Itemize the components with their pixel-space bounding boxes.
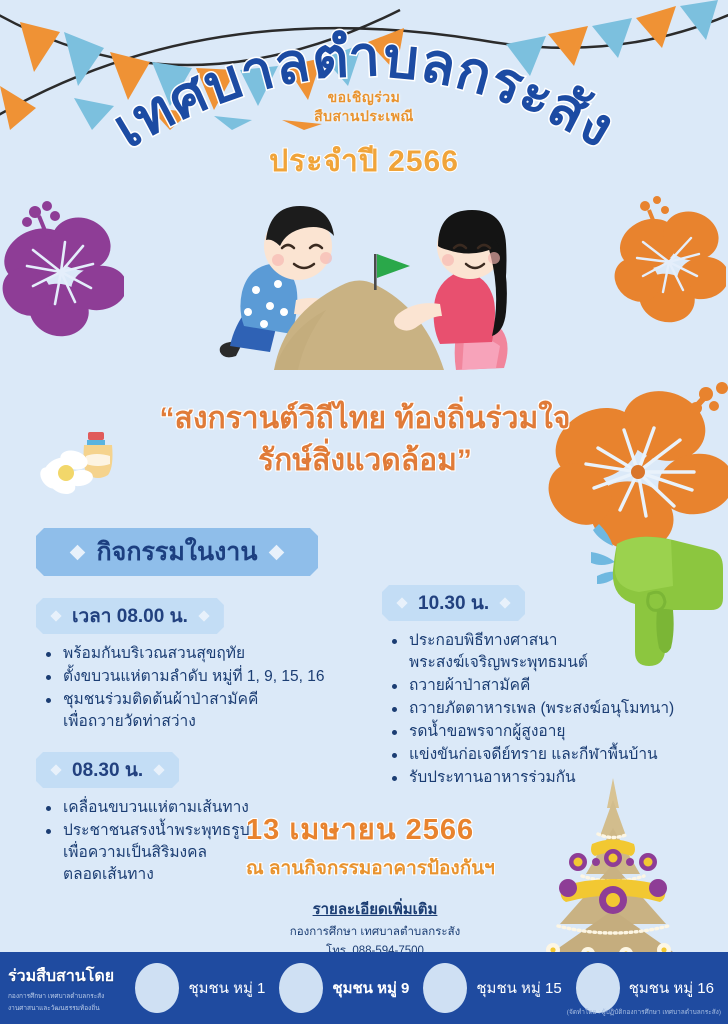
time-chip-0800: เวลา 08.00 น. xyxy=(36,598,224,634)
chip-diamond-right-icon xyxy=(153,764,164,775)
invite-line-2: สืบสานประเพณี xyxy=(0,107,728,126)
footer-bar: ร่วมสืบสานโดย กองการศึกษา เทศบาลตำบลกระส… xyxy=(0,952,728,1024)
community-label: ชุมชน หมู่ 9 xyxy=(332,976,409,1000)
footer-sub-line-1: กองการศึกษา เทศบาลตำบลกระสัง xyxy=(8,992,135,1001)
more-info-office: กองการศึกษา เทศบาลตำบลกระสัง xyxy=(246,925,504,940)
event-date-block: 13 เมษายน 2566 ณ ลานกิจกรรมอาคารป้องกันฯ… xyxy=(246,806,576,959)
diamond-right-icon xyxy=(269,544,285,560)
time-chip-1030-label: 10.30 น. xyxy=(418,588,489,618)
kids-building-sand-pagoda-illustration xyxy=(178,188,548,384)
time-chip-0830-label: 08.30 น. xyxy=(72,755,143,785)
time-chip-0830: 08.30 น. xyxy=(36,752,179,788)
list-item: พร้อมกันบริเวณสวนสุขฤทัย xyxy=(44,643,366,665)
list-item: ประกอบพิธีทางศาสนา พระสงฆ์เจริญพระพุทธมน… xyxy=(390,630,712,674)
more-info-title: รายละเอียดเพิ่มเติม xyxy=(246,897,504,921)
invite-line-1: ขอเชิญร่วม xyxy=(0,88,728,107)
footer-credit: (จัดทำโดย : ผู้ปฏิบัติกองการศึกษา เทศบาล… xyxy=(567,1007,721,1017)
slogan-text: “สงกรานต์วิถีไทย ท้องถิ่นร่วมใจ รักษ์สิ่… xyxy=(60,398,670,482)
list-item-text: ประชาชนสรงน้ำพระพุทธรูป xyxy=(63,822,249,839)
poster-canvas: เทศบาลตำบลกระสัง ขอเชิญร่วม สืบสานประเพณ… xyxy=(0,0,728,1024)
list-item-text-cont: เพื่อถวายวัดท่าสว่าง xyxy=(63,711,366,733)
hibiscus-flower-purple-icon xyxy=(2,192,124,352)
year-text: ประจำปี 2566 xyxy=(0,138,728,185)
event-date: 13 เมษายน 2566 xyxy=(246,806,576,852)
community-item-16[interactable]: ชุมชน หมู่ 16 xyxy=(576,963,728,1013)
community-bubble-icon xyxy=(135,963,179,1013)
list-item: ตั้งขบวนแห่ตามลำดับ หมู่ที่ 1, 9, 15, 16 xyxy=(44,666,366,688)
hibiscus-flower-orange-small-icon xyxy=(614,188,726,338)
schedule-block-1030: 10.30 น. ประกอบพิธีทางศาสนา พระสงฆ์เจริญ… xyxy=(382,585,712,790)
invite-text: ขอเชิญร่วม สืบสานประเพณี xyxy=(0,88,728,126)
schedule-block-0800: เวลา 08.00 น. พร้อมกันบริเวณสวนสุขฤทัย ต… xyxy=(36,598,366,734)
chip-diamond-right-icon xyxy=(499,597,510,608)
community-item-9[interactable]: ชุมชน หมู่ 9 xyxy=(279,963,423,1013)
activities-banner-label: กิจกรรมในงาน xyxy=(97,532,258,572)
time-chip-1030: 10.30 น. xyxy=(382,585,525,621)
list-item: รับประทานอาหารร่วมกัน xyxy=(390,767,712,789)
schedule-list-1030: ประกอบพิธีทางศาสนา พระสงฆ์เจริญพระพุทธมน… xyxy=(390,630,712,789)
slogan-line-2: รักษ์สิ่งแวดล้อม” xyxy=(60,440,670,482)
list-item-text: ชุมชนร่วมติดต้นผ้าป่าสามัคคี xyxy=(63,691,258,708)
community-item-15[interactable]: ชุมชน หมู่ 15 xyxy=(423,963,575,1013)
list-item: แข่งขันก่อเจดีย์ทราย และกีฬาพื้นบ้าน xyxy=(390,744,712,766)
chip-diamond-left-icon xyxy=(50,764,61,775)
community-label: ชุมชน หมู่ 1 xyxy=(188,976,265,1000)
community-label: ชุมชน หมู่ 16 xyxy=(629,976,714,1000)
chip-diamond-right-icon xyxy=(198,610,209,621)
community-bubble-icon xyxy=(576,963,620,1013)
footer-sub-line-2: งานศาสนาและวัฒนธรรมท้องถิ่น xyxy=(8,1004,135,1013)
list-item-text-cont: พระสงฆ์เจริญพระพุทธมนต์ xyxy=(409,652,712,674)
time-chip-0800-label: เวลา 08.00 น. xyxy=(72,601,188,631)
chip-diamond-left-icon xyxy=(396,597,407,608)
footer-title: ร่วมสืบสานโดย xyxy=(8,964,135,989)
list-item: รดน้ำขอพรจากผู้สูงอายุ xyxy=(390,721,712,743)
schedule-list-0800: พร้อมกันบริเวณสวนสุขฤทัย ตั้งขบวนแห่ตามล… xyxy=(44,643,366,733)
community-item-1[interactable]: ชุมชน หมู่ 1 xyxy=(135,963,279,1013)
chip-diamond-left-icon xyxy=(50,610,61,621)
community-bubble-icon xyxy=(423,963,467,1013)
list-item: ชุมชนร่วมติดต้นผ้าป่าสามัคคี เพื่อถวายวั… xyxy=(44,689,366,733)
community-list: ชุมชน หมู่ 1 ชุมชน หมู่ 9 ชุมชน หมู่ 15 … xyxy=(135,963,728,1013)
community-label: ชุมชน หมู่ 15 xyxy=(476,976,561,1000)
diamond-left-icon xyxy=(69,544,85,560)
activities-banner: กิจกรรมในงาน xyxy=(36,528,318,576)
community-bubble-icon xyxy=(279,963,323,1013)
event-venue: ณ ลานกิจกรรมอาคารป้องกันฯ xyxy=(246,853,576,883)
footer-left-block: ร่วมสืบสานโดย กองการศึกษา เทศบาลตำบลกระส… xyxy=(0,964,135,1013)
slogan-line-1: “สงกรานต์วิถีไทย ท้องถิ่นร่วมใจ xyxy=(60,398,670,440)
list-item: ถวายภัตตาหารเพล (พระสงฆ์อนุโมทนา) xyxy=(390,698,712,720)
list-item-text: ประกอบพิธีทางศาสนา xyxy=(409,632,558,649)
list-item: ถวายผ้าป่าสามัคคี xyxy=(390,675,712,697)
